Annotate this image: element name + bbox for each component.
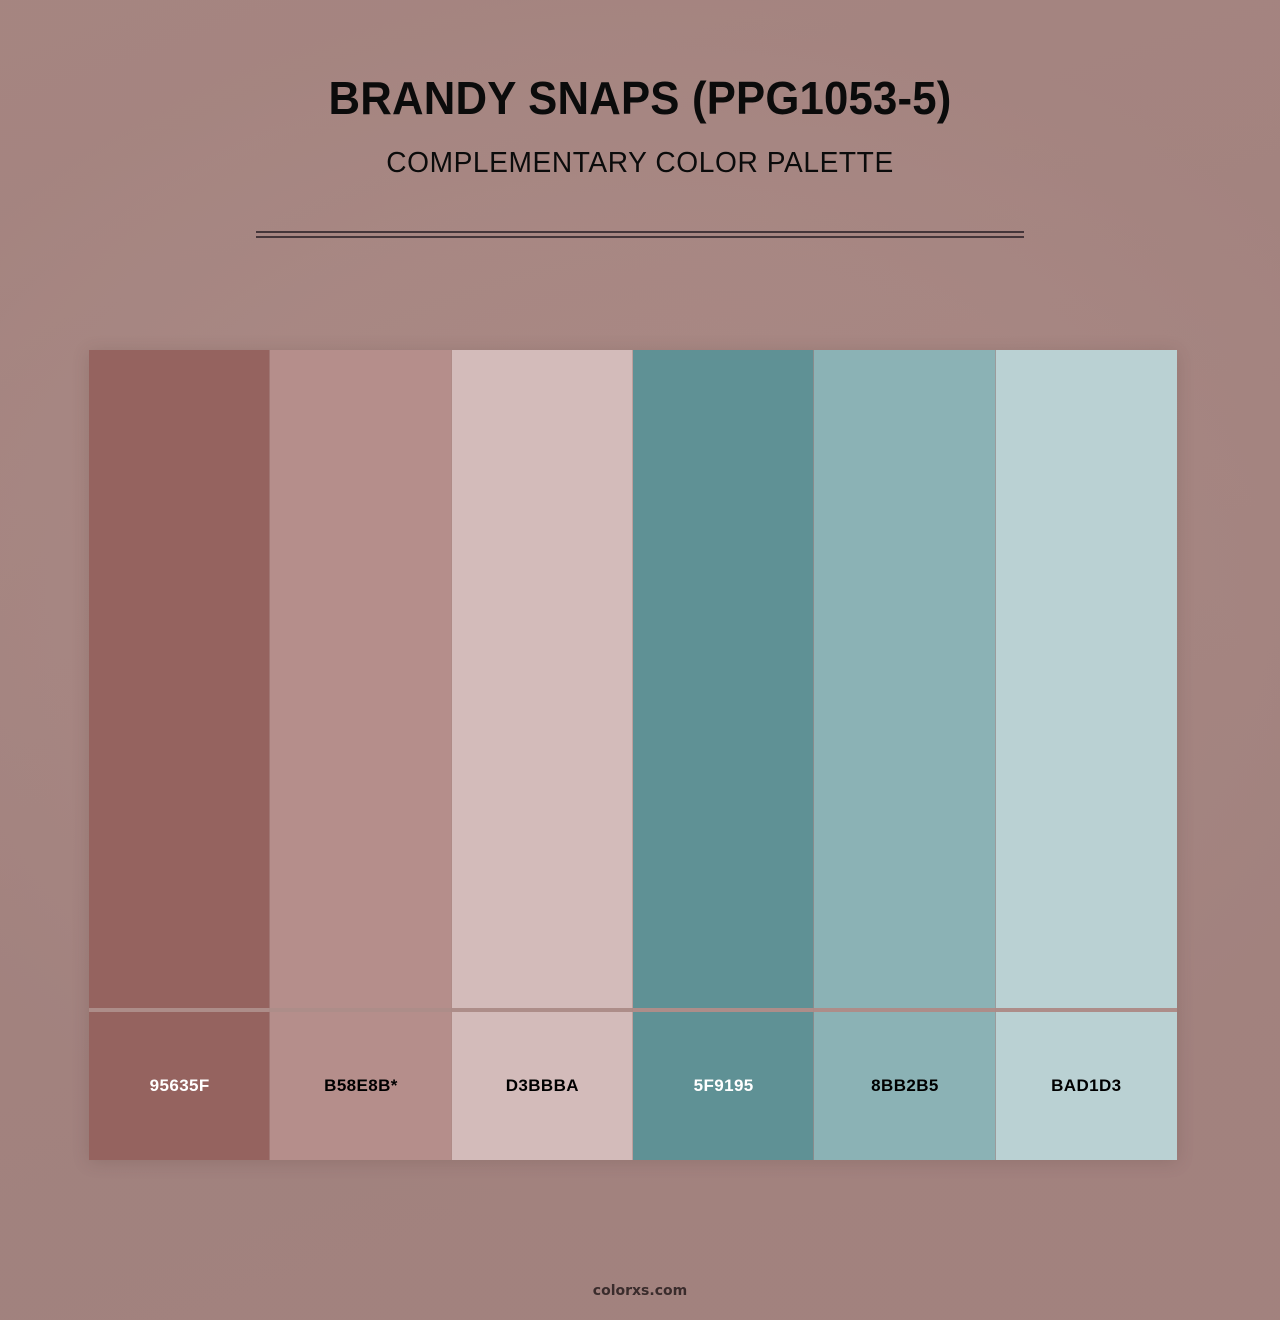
swatch-hex-label-5: 8BB2B5	[871, 1076, 939, 1096]
swatch-hex-label-6: BAD1D3	[1051, 1076, 1121, 1096]
swatch-label-area-6: BAD1D3	[996, 1012, 1177, 1160]
swatch-color-block-5[interactable]	[814, 350, 995, 1008]
rule-line-bottom	[256, 236, 1024, 238]
color-palette-page: BRANDY SNAPS (PPG1053-5) COMPLEMENTARY C…	[0, 0, 1280, 1320]
swatch-color-block-4[interactable]	[633, 350, 814, 1008]
rule-line-top	[256, 231, 1024, 233]
page-subtitle: COMPLEMENTARY COLOR PALETTE	[19, 124, 1261, 180]
site-watermark: colorxs.com	[0, 1283, 1280, 1299]
page-title: BRANDY SNAPS (PPG1053-5)	[32, 0, 1248, 124]
swatch-column-6[interactable]: BAD1D3	[996, 350, 1177, 1160]
swatch-color-block-2[interactable]	[270, 350, 451, 1008]
page-header: BRANDY SNAPS (PPG1053-5) COMPLEMENTARY C…	[0, 0, 1280, 180]
swatch-column-5[interactable]: 8BB2B5	[814, 350, 995, 1160]
swatch-hex-label-1: 95635F	[150, 1076, 210, 1096]
swatch-label-area-5: 8BB2B5	[814, 1012, 995, 1160]
swatch-column-1[interactable]: 95635F	[89, 350, 270, 1160]
swatch-color-block-6[interactable]	[996, 350, 1177, 1008]
swatch-color-block-3[interactable]	[452, 350, 633, 1008]
swatch-column-2[interactable]: B58E8B*	[270, 350, 451, 1160]
swatch-hex-label-2: B58E8B*	[324, 1076, 398, 1096]
swatch-label-area-2: B58E8B*	[270, 1012, 451, 1160]
palette-swatch-strip: 95635F B58E8B* D3BBBA 5F9195	[89, 350, 1177, 1160]
swatch-column-4[interactable]: 5F9195	[633, 350, 814, 1160]
swatch-hex-label-4: 5F9195	[694, 1076, 754, 1096]
swatch-hex-label-3: D3BBBA	[506, 1076, 579, 1096]
title-divider-rule	[256, 231, 1024, 238]
swatch-label-area-1: 95635F	[89, 1012, 270, 1160]
swatch-column-3[interactable]: D3BBBA	[452, 350, 633, 1160]
swatch-label-area-3: D3BBBA	[452, 1012, 633, 1160]
swatch-color-block-1[interactable]	[89, 350, 270, 1008]
swatch-label-area-4: 5F9195	[633, 1012, 814, 1160]
